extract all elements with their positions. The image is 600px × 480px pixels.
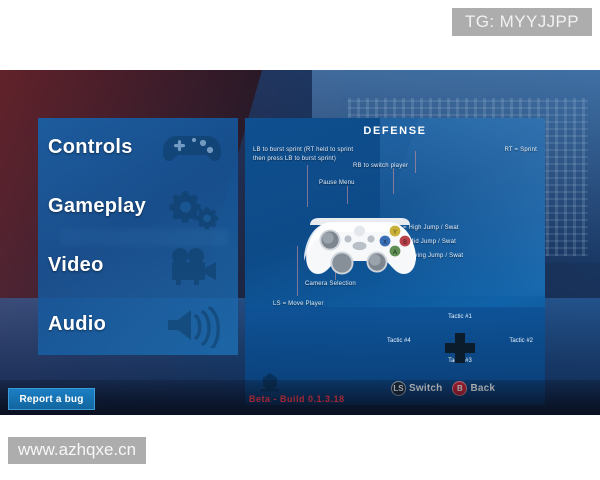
movie-camera-icon [160, 243, 224, 289]
report-a-bug-button[interactable]: Report a bug [8, 388, 95, 410]
speaker-icon [160, 302, 224, 348]
gamepad-icon [160, 125, 224, 171]
settings-menu-panel: Controls Gameplay [38, 118, 238, 355]
menu-item-audio[interactable]: Audio [38, 295, 238, 354]
game-viewport: Controls Gameplay [0, 70, 600, 415]
diagram-title: DEFENSE [245, 125, 545, 137]
menu-item-gameplay[interactable]: Gameplay [38, 177, 238, 236]
controls-diagram-panel: DEFENSE LB to burst sprint (RT held to s… [245, 118, 545, 405]
menu-item-video[interactable]: Video [38, 236, 238, 295]
gears-icon [160, 184, 224, 230]
tactics-dpad-cluster: Tactic #1 Tactic #2 Tactic #3 Tactic #4 [385, 308, 535, 370]
tactic-right-label: Tactic #2 [509, 338, 533, 344]
svg-text:B: B [403, 239, 407, 246]
label-pause-menu: Pause Menu [319, 179, 355, 188]
menu-item-label: Video [48, 254, 104, 277]
menu-item-label: Audio [48, 313, 106, 336]
menu-item-label: Controls [48, 136, 133, 159]
label-rb-switch-player: RB to switch player [353, 162, 408, 171]
label-rt-sprint: RT = Sprint [505, 146, 538, 155]
tactic-up-label: Tactic #1 [448, 314, 472, 320]
tactic-left-label: Tactic #4 [387, 338, 411, 344]
xbox-controller-illustration: Y X B A [285, 198, 435, 298]
screenshot-root: TG: MYYJJPP Controls [0, 0, 600, 480]
site-watermark: www.azhqxe.cn [8, 437, 146, 464]
leader-line-rt [415, 151, 416, 173]
build-version-text: Beta - Build 0.1.3.18 [249, 394, 345, 404]
game-bottom-bar: Report a bug Beta - Build 0.1.3.18 [0, 380, 600, 415]
menu-item-controls[interactable]: Controls [38, 118, 238, 177]
label-lb-burst-sprint: LB to burst sprint (RT held to sprint th… [253, 146, 365, 164]
dpad-icon [443, 332, 477, 364]
leader-line-rb [393, 168, 394, 194]
menu-item-label: Gameplay [48, 195, 146, 218]
label-ls-move-player: LS = Move Player [273, 300, 324, 309]
svg-text:X: X [383, 239, 387, 246]
tg-watermark: TG: MYYJJPP [452, 8, 592, 36]
svg-text:Y: Y [392, 229, 397, 236]
